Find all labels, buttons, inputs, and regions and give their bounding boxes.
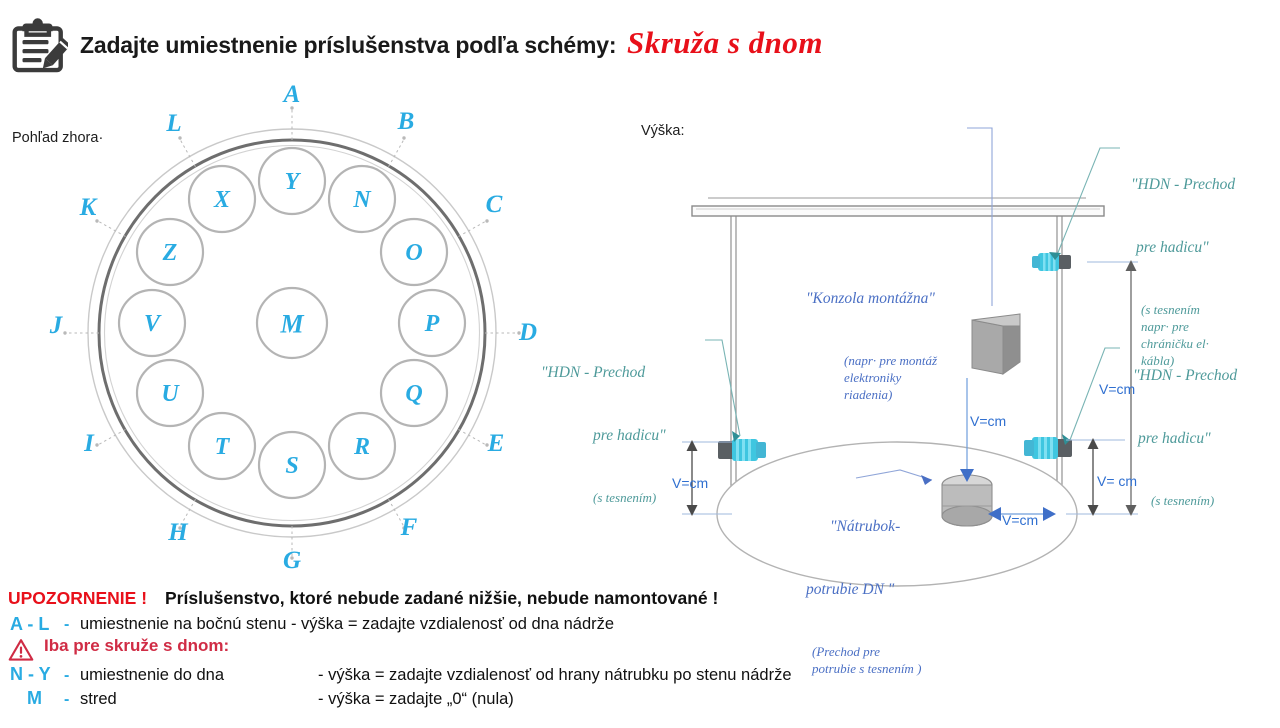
slot-M-center[interactable]: M	[279, 310, 304, 339]
legend-only-for-bottom: Iba pre skruže s dnom:	[44, 636, 229, 656]
callout-hdn-right-note: (s tesnením)	[1151, 492, 1237, 509]
dimension-label-bottom-horizontal[interactable]: V=cm	[1002, 512, 1038, 528]
callout-hdn-left-title2: pre hadicu"	[593, 426, 666, 446]
port-label-H[interactable]: H	[168, 519, 187, 547]
legend-text-n-y: umiestnenie do dna	[80, 666, 224, 685]
legend-text-a-l: umiestnenie na bočnú stenu - výška = zad…	[80, 615, 614, 634]
callout-hdn-left: "HDN - Prechod pre hadicu" (s tesnením)	[541, 321, 666, 527]
slot-X[interactable]: X	[213, 187, 231, 213]
tank-top-rim	[692, 198, 1104, 216]
legend-key-m: M	[27, 688, 42, 709]
header-variant-name: Skruža s dnom	[627, 25, 823, 61]
warning-triangle-icon	[8, 638, 34, 662]
slot-Z[interactable]: Z	[162, 240, 178, 266]
legend-dash-m: -	[64, 691, 69, 709]
page-header: Zadajte umiestnenie príslušenstva podľa …	[0, 8, 1280, 70]
port-label-K[interactable]: K	[80, 194, 97, 222]
callout-hdn-top-right-title2: pre hadicu"	[1136, 238, 1235, 258]
port-label-E[interactable]: E	[488, 430, 505, 458]
port-label-L[interactable]: L	[166, 110, 181, 138]
callout-hdn-top-right-title: "HDN - Prechod	[1131, 175, 1235, 195]
dimension-label-center-pipe[interactable]: V=cm	[970, 413, 1006, 429]
page-title: Zadajte umiestnenie príslušenstva podľa …	[80, 32, 616, 59]
port-label-A[interactable]: A	[284, 81, 301, 109]
dimension-label-right-inner[interactable]: V= cm	[1097, 473, 1137, 489]
port-label-F[interactable]: F	[401, 514, 418, 542]
legend-warning-word: UPOZORNENIE !	[8, 588, 147, 609]
port-label-B[interactable]: B	[398, 108, 415, 136]
top-view-diagram: Y N O P Q R S T U V Z X M	[40, 85, 580, 585]
mounting-bracket-shape	[972, 314, 1020, 374]
callout-hdn-right-title: "HDN - Prechod	[1133, 366, 1237, 386]
dimension-label-right-outer[interactable]: V=cm	[1099, 381, 1135, 397]
port-label-I[interactable]: I	[84, 430, 94, 458]
slot-Q[interactable]: Q	[405, 381, 422, 407]
legend-dash-n-y: -	[64, 667, 69, 685]
legend-dash-a-l: -	[64, 616, 69, 634]
slot-P[interactable]: P	[424, 311, 440, 337]
port-label-C[interactable]: C	[486, 191, 503, 219]
slot-S[interactable]: S	[285, 453, 298, 479]
callout-natrubok-title: "Nátrubok-	[830, 517, 921, 537]
legend-warning-text: Príslušenstvo, ktoré nebude zadané nižši…	[165, 588, 718, 609]
legend-text-m: stred	[80, 690, 117, 709]
callout-konzola-note: (napr· pre montáž elektroniky riadenia)	[844, 352, 937, 403]
dimension-label-left[interactable]: V=cm	[672, 475, 708, 491]
slot-T[interactable]: T	[215, 434, 231, 460]
slot-R[interactable]: R	[353, 434, 370, 460]
pipe-stub-shape	[942, 475, 992, 526]
legend-key-a-l: A - L	[10, 614, 49, 635]
slot-N[interactable]: N	[352, 187, 372, 213]
slot-V[interactable]: V	[144, 311, 162, 337]
slot-O[interactable]: O	[405, 240, 422, 266]
callout-konzola-title: "Konzola montážna"	[806, 289, 937, 309]
callout-hdn-right-title2: pre hadicu"	[1138, 429, 1237, 449]
callout-hdn-left-title: "HDN - Prechod	[541, 363, 666, 383]
clipboard-pencil-icon	[6, 18, 68, 74]
slot-U[interactable]: U	[161, 381, 180, 407]
port-label-J[interactable]: J	[50, 312, 63, 340]
callout-hdn-right: "HDN - Prechod pre hadicu" (s tesnením)	[1133, 324, 1237, 530]
callout-konzola: "Konzola montážna" (napr· pre montáž ele…	[806, 247, 937, 424]
legend-note-n-y: - výška = zadajte vzdialenosť od hrany n…	[318, 666, 792, 685]
port-label-D[interactable]: D	[519, 319, 537, 347]
slot-Y[interactable]: Y	[285, 169, 302, 195]
callout-hdn-left-note: (s tesnením)	[593, 489, 666, 506]
legend-key-n-y: N - Y	[10, 664, 51, 685]
port-label-G[interactable]: G	[283, 547, 301, 575]
legend-note-m: - výška = zadajte „0“ (nula)	[318, 690, 514, 709]
legend-panel: UPOZORNENIE ! Príslušenstvo, ktoré nebud…	[0, 588, 1280, 728]
hose-fitting-right-upper	[1032, 253, 1071, 271]
